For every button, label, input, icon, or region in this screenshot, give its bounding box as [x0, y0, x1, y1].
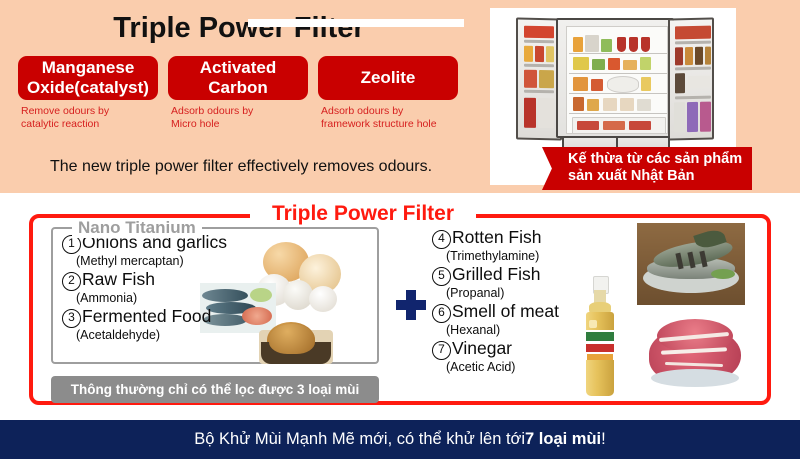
fridge-origin-tag-line2: sản xuất Nhật Bản: [568, 168, 742, 185]
filter-desc-manganese-line2: catalytic reaction: [21, 118, 158, 131]
odour-name-3: Fermented Food: [82, 306, 211, 326]
filter-pill-manganese: Manganese Oxide(catalyst): [18, 56, 158, 100]
infographic-page: Triple Power Filter Manganese Oxide(cata…: [0, 0, 800, 459]
filter-column-activated-carbon: Activated Carbon Adsorb odours by Micro …: [168, 56, 308, 131]
odour-item-5: 5Grilled Fish: [432, 264, 559, 286]
filter-desc-manganese: Remove odours by catalytic reaction: [18, 105, 158, 131]
filter-pill-zeolite: Zeolite: [318, 56, 458, 100]
filter-pill-activated-carbon: Activated Carbon: [168, 56, 308, 100]
odour-number-4: 4: [432, 230, 451, 249]
filter-desc-carbon-line1: Adsorb odours by: [171, 105, 308, 118]
odour-name-4: Rotten Fish: [452, 227, 541, 247]
odour-chem-2: (Ammonia): [62, 291, 227, 306]
filter-desc-manganese-line1: Remove odours by: [21, 105, 158, 118]
odour-name-5: Grilled Fish: [452, 264, 541, 284]
bottom-text-strong: 7 loại mùi: [525, 430, 601, 449]
odour-number-3: 3: [62, 309, 81, 328]
odour-item-3: 3Fermented Food: [62, 306, 227, 328]
odour-name-6: Smell of meat: [452, 301, 559, 321]
odour-number-5: 5: [432, 267, 451, 286]
page-title: Triple Power Filter: [14, 12, 464, 45]
filter-pill-zeolite-line1: Zeolite: [361, 68, 416, 88]
nano-titanium-label: Nano Titanium: [72, 218, 202, 238]
odour-list-right: 4Rotten Fish (Trimethylamine) 5Grilled F…: [432, 227, 559, 375]
filter-pill-row: Manganese Oxide(catalyst) Remove odours …: [18, 56, 458, 131]
filter-column-zeolite: Zeolite Adsorb odours by framework struc…: [318, 56, 458, 131]
odour-item-2: 2Raw Fish: [62, 269, 227, 291]
filter-desc-carbon-line2: Micro hole: [171, 118, 308, 131]
title-notch: [248, 19, 464, 27]
odour-chem-5: (Propanal): [432, 286, 559, 301]
odour-number-2: 2: [62, 272, 81, 291]
refrigerator-image: [520, 18, 710, 168]
odour-chem-7: (Acetic Acid): [432, 360, 559, 375]
odour-item-6: 6Smell of meat: [432, 301, 559, 323]
odour-item-7: 7Vinegar: [432, 338, 559, 360]
odour-chem-3: (Acetaldehyde): [62, 328, 227, 343]
vinegar-bottle-photo: [578, 276, 622, 396]
odour-number-7: 7: [432, 341, 451, 360]
bottom-text-before: Bộ Khử Mùi Mạnh Mẽ mới, có thể khử lên t…: [194, 430, 525, 449]
odour-chem-6: (Hexanal): [432, 323, 559, 338]
filter-desc-zeolite-line2: framework structure hole: [321, 118, 458, 131]
filter-desc-zeolite-line1: Adsorb odours by: [321, 105, 458, 118]
fridge-cabinet: [556, 18, 674, 138]
odour-name-7: Vinegar: [452, 338, 512, 358]
grilled-fish-photo: [637, 223, 745, 305]
middle-title: Triple Power Filter: [250, 203, 476, 225]
odour-chem-1: (Methyl mercaptan): [62, 254, 227, 269]
fridge-origin-tag-line1: Kế thừa từ các sản phẩm: [568, 151, 742, 168]
plus-icon: [396, 290, 426, 320]
filter-column-manganese: Manganese Oxide(catalyst) Remove odours …: [18, 56, 158, 131]
fridge-right-door: [668, 18, 714, 141]
filter-pill-carbon-line1: Activated: [200, 58, 277, 78]
standard-filter-note: Thông thường chỉ có thể lọc được 3 loại …: [51, 376, 379, 403]
filter-desc-activated-carbon: Adsorb odours by Micro hole: [168, 105, 308, 131]
filter-pill-manganese-line2: Oxide(catalyst): [27, 78, 149, 98]
filter-pill-carbon-line2: Carbon: [200, 78, 277, 98]
odour-list-left: 1Onions and garlics (Methyl mercaptan) 2…: [62, 232, 227, 343]
fridge-interior: [566, 26, 668, 134]
top-caption: The new triple power filter effectively …: [16, 158, 466, 176]
filter-desc-zeolite: Adsorb odours by framework structure hol…: [318, 105, 458, 131]
odour-number-6: 6: [432, 304, 451, 323]
odour-name-2: Raw Fish: [82, 269, 155, 289]
odour-item-4: 4Rotten Fish: [432, 227, 559, 249]
bottom-text-after: !: [601, 430, 606, 449]
odour-chem-4: (Trimethylamine): [432, 249, 559, 264]
fermented-food-photo: [253, 316, 339, 368]
filter-pill-manganese-line1: Manganese: [27, 58, 149, 78]
fridge-origin-tag: Kế thừa từ các sản phẩm sản xuất Nhật Bả…: [554, 147, 752, 190]
bottom-banner: Bộ Khử Mùi Mạnh Mẽ mới, có thể khử lên t…: [0, 420, 800, 459]
raw-meat-photo: [645, 305, 745, 391]
